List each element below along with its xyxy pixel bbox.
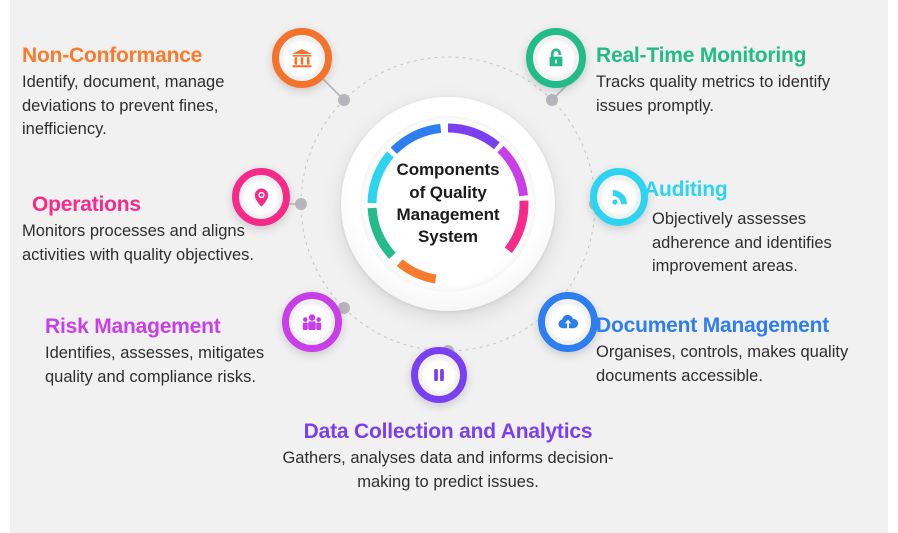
center-title: Components of Quality Management System — [341, 97, 555, 311]
infographic-canvas: Components of Quality Management System — [10, 0, 888, 533]
badge-ring-real-time-monitoring — [526, 28, 586, 88]
description-operations: Monitors processes and aligns activities… — [22, 220, 272, 267]
badge-ring-risk-management — [282, 292, 342, 352]
description-document-management: Organises, controls, makes quality docum… — [596, 341, 886, 388]
description-auditing: Objectively assesses adherence and ident… — [652, 208, 884, 278]
description-data-collection: Gathers, analyses data and informs decis… — [258, 447, 638, 494]
title-non-conformance: Non-Conformance — [22, 44, 272, 68]
badge-ring-non-conformance — [272, 28, 332, 88]
text-block-real-time-monitoring: Real-Time Monitoring Tracks quality metr… — [596, 44, 866, 118]
center-title-line-3: Management — [397, 204, 500, 226]
text-block-non-conformance: Non-Conformance Identify, document, mana… — [22, 44, 272, 141]
description-real-time-monitoring: Tracks quality metrics to identify issue… — [596, 71, 866, 118]
badge-document-management[interactable] — [538, 292, 598, 352]
title-operations: Operations — [32, 193, 272, 217]
center-title-line-4: System — [418, 226, 478, 248]
badge-ring-document-management — [538, 292, 598, 352]
description-risk-management: Identifies, assesses, mitigates quality … — [45, 342, 282, 389]
title-auditing: Auditing — [644, 178, 884, 202]
badge-data-collection[interactable] — [411, 347, 467, 403]
title-document-management: Document Management — [596, 314, 886, 338]
center-hub: Components of Quality Management System — [341, 97, 555, 311]
center-title-line-1: Components — [397, 159, 500, 181]
text-block-auditing: Auditing Objectively assesses adherence … — [644, 178, 884, 278]
node-dot-operations — [295, 198, 307, 210]
badge-ring-auditing — [590, 168, 648, 226]
text-block-data-collection: Data Collection and Analytics Gathers, a… — [258, 420, 638, 494]
text-block-document-management: Document Management Organises, controls,… — [596, 314, 886, 388]
badge-ring-data-collection — [411, 347, 467, 403]
badge-auditing[interactable] — [590, 168, 648, 226]
center-title-line-2: of Quality — [409, 182, 486, 204]
title-data-collection: Data Collection and Analytics — [258, 420, 638, 444]
description-non-conformance: Identify, document, manage deviations to… — [22, 71, 272, 141]
badge-risk-management[interactable] — [282, 292, 342, 352]
badge-real-time-monitoring[interactable] — [526, 28, 586, 88]
badge-non-conformance[interactable] — [272, 28, 332, 88]
title-risk-management: Risk Management — [45, 315, 282, 339]
text-block-operations: Operations Monitors processes and aligns… — [22, 193, 272, 267]
text-block-risk-management: Risk Management Identifies, assesses, mi… — [32, 315, 282, 389]
title-real-time-monitoring: Real-Time Monitoring — [596, 44, 866, 68]
